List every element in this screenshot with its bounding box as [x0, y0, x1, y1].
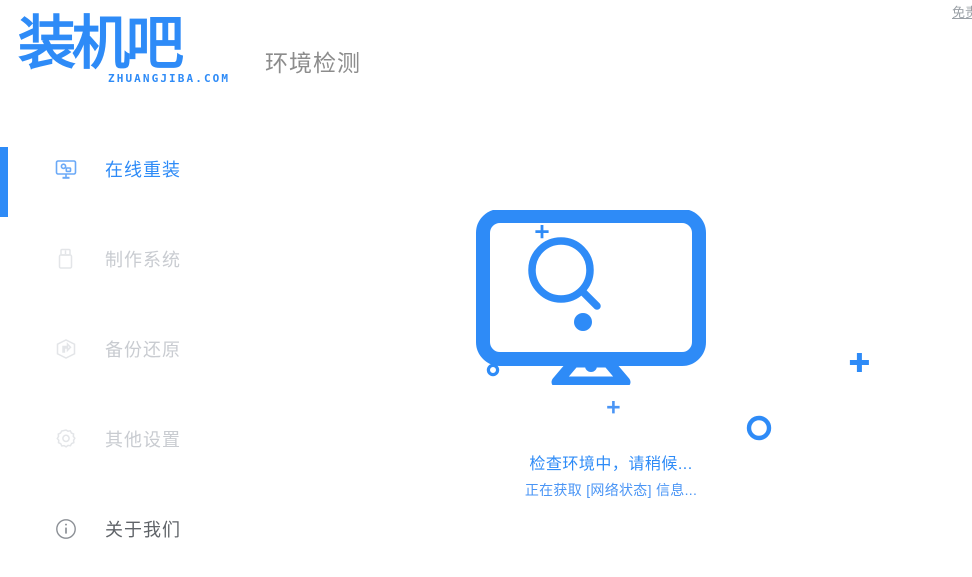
status-secondary-text: 正在获取 [网络状态] 信息...: [250, 480, 972, 500]
page-title: 环境检测: [265, 44, 361, 78]
monitor-icon: [53, 156, 79, 182]
status-block: 检查环境中，请稍候... 正在获取 [网络状态] 信息...: [250, 450, 972, 500]
sidebar-item-backup-restore[interactable]: 备份还原: [0, 322, 250, 376]
monitor-search-illustration: [475, 210, 715, 385]
sidebar-item-make-system[interactable]: 制作系统: [0, 232, 250, 286]
gear-icon: [53, 426, 79, 452]
main-content: 检查环境中，请稍候... 正在获取 [网络状态] 信息...: [250, 115, 972, 577]
large-ring-icon: [744, 413, 774, 448]
logo-domain-text: ZHUANGJIBA.COM: [108, 72, 230, 85]
plus-mark-icon: [605, 399, 622, 421]
status-primary-text: 检查环境中，请稍候...: [250, 450, 972, 474]
active-indicator-bar: [0, 147, 8, 217]
sidebar-item-label: 制作系统: [105, 246, 181, 272]
sidebar-item-label: 备份还原: [105, 336, 181, 362]
sidebar-nav: 在线重装 制作系统 备份还原: [0, 115, 250, 577]
sidebar-item-label: 在线重装: [105, 156, 181, 182]
app-header: 装机吧 ZHUANGJIBA.COM 环境检测 免责声明: [0, 0, 972, 115]
sidebar-item-other-settings[interactable]: 其他设置: [0, 412, 250, 466]
logo-wordmark: 装机吧: [18, 10, 240, 76]
sidebar-item-label: 其他设置: [105, 426, 181, 452]
info-icon: [53, 516, 79, 542]
plus-mark-icon: [846, 351, 873, 383]
sidebar-item-about-us[interactable]: 关于我们: [0, 502, 250, 556]
sidebar-item-label: 关于我们: [105, 516, 181, 542]
sidebar-item-online-reinstall[interactable]: 在线重装: [0, 142, 250, 196]
usb-drive-icon: [53, 246, 79, 272]
app-logo: 装机吧 ZHUANGJIBA.COM: [18, 10, 240, 95]
disclaimer-link[interactable]: 免责声明: [952, 2, 972, 21]
box-restore-icon: [53, 336, 79, 362]
